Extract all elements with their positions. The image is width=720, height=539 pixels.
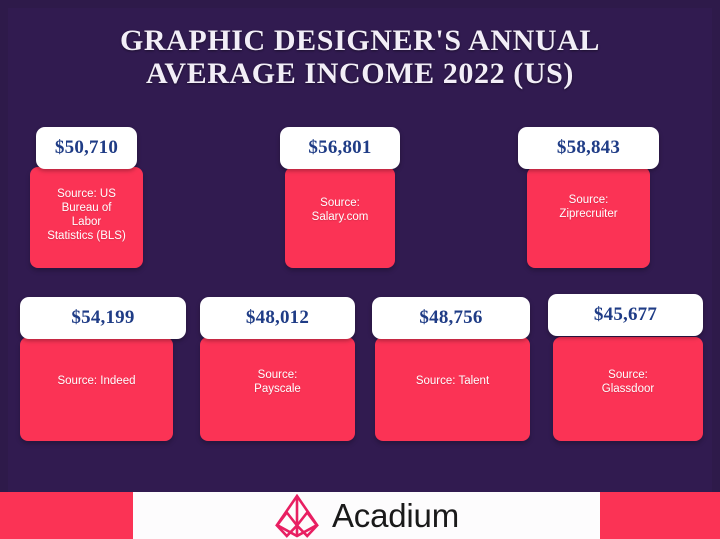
- brand-name: Acadium: [332, 499, 459, 532]
- stat-card-label: $48,012: [200, 297, 355, 339]
- stat-card-salarycom[interactable]: Source: Salary.com $56,801: [285, 167, 395, 268]
- stat-card-glassdoor[interactable]: Source: Glassdoor $45,677: [553, 337, 703, 441]
- stat-card-body: [375, 337, 530, 441]
- infographic-canvas: GRAPHIC DESIGNER'S ANNUAL AVERAGE INCOME…: [0, 0, 720, 539]
- stat-card-source: Source: Payscale: [204, 368, 351, 396]
- stat-card-source: Source: US Bureau of Labor Statistics (B…: [34, 187, 139, 243]
- stat-card-talent[interactable]: Source: Talent $48,756: [375, 337, 530, 441]
- stat-card-value: $48,012: [246, 307, 309, 329]
- acadium-logo-icon: [274, 494, 320, 538]
- stat-card-label: $45,677: [548, 294, 703, 336]
- stat-card-bls[interactable]: Source: US Bureau of Labor Statistics (B…: [30, 167, 143, 268]
- stat-card-payscale[interactable]: Source: Payscale $48,012: [200, 337, 355, 441]
- stat-card-source: Source: Ziprecruiter: [531, 193, 646, 221]
- footer-bar: Acadium: [0, 492, 720, 539]
- stat-card-source: Source: Indeed: [24, 374, 169, 388]
- stat-card-value: $54,199: [71, 307, 134, 329]
- stat-card-body: [20, 337, 173, 441]
- title-line-2: AVERAGE INCOME 2022 (US): [0, 57, 720, 90]
- stat-card-value: $56,801: [308, 137, 371, 159]
- stat-card-value: $50,710: [55, 137, 118, 159]
- stat-card-source: Source: Salary.com: [289, 196, 391, 224]
- stat-card-label: $48,756: [372, 297, 530, 339]
- stat-card-label: $56,801: [280, 127, 400, 169]
- stat-card-label: $54,199: [20, 297, 186, 339]
- stat-card-ziprecruiter[interactable]: Source: Ziprecruiter $58,843: [527, 167, 650, 268]
- stat-card-value: $45,677: [594, 304, 657, 326]
- stat-card-source: Source: Glassdoor: [557, 368, 699, 396]
- stat-card-indeed[interactable]: Source: Indeed $54,199: [20, 337, 173, 441]
- stat-card-label: $58,843: [518, 127, 659, 169]
- stat-card-source: Source: Talent: [379, 374, 526, 388]
- stat-card-label: $50,710: [36, 127, 137, 169]
- stat-card-value: $58,843: [557, 137, 620, 159]
- stat-card-value: $48,756: [419, 307, 482, 329]
- title-line-1: GRAPHIC DESIGNER'S ANNUAL: [0, 24, 720, 57]
- page-title: GRAPHIC DESIGNER'S ANNUAL AVERAGE INCOME…: [0, 24, 720, 90]
- brand-plate: Acadium: [133, 492, 600, 539]
